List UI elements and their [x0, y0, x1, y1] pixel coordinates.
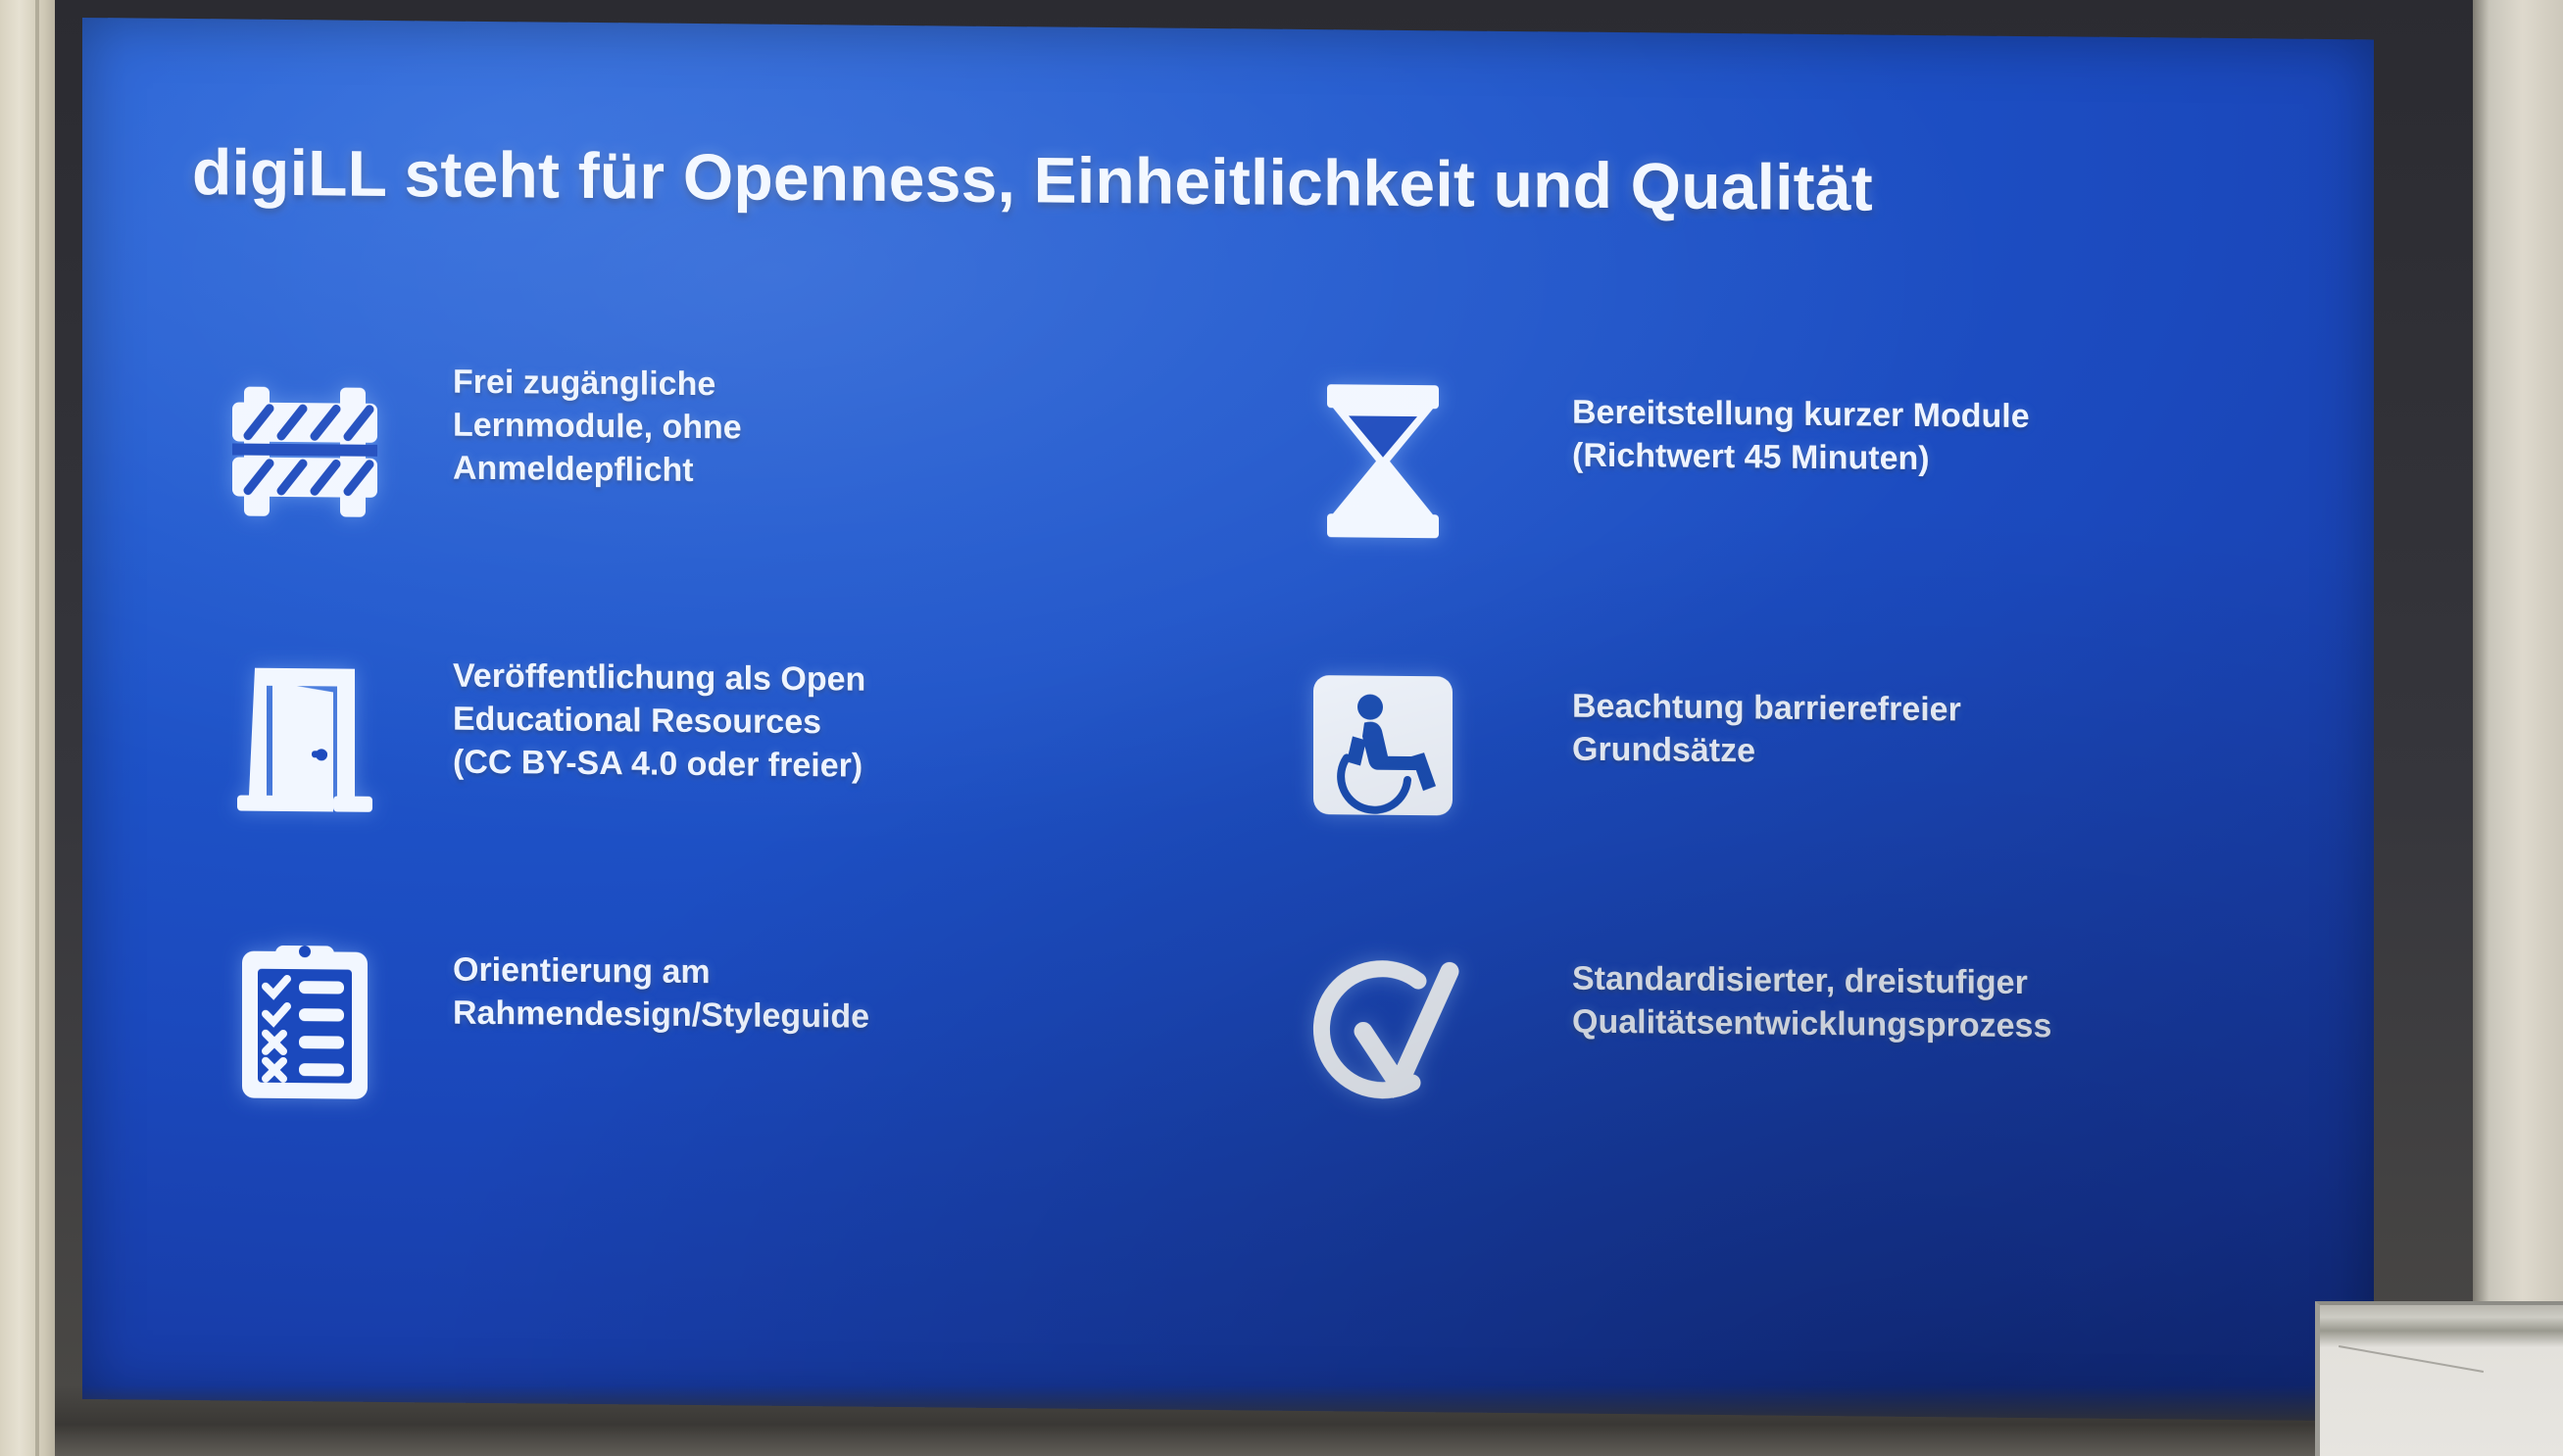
room-background: digiLL steht für Openness, Einheitlichke… — [0, 0, 2563, 1456]
cycle-check-icon — [1270, 931, 1496, 1129]
feature-line: Beachtung barrierefreier — [1572, 685, 1961, 732]
road-barrier-icon — [192, 352, 418, 550]
feature-line: Rahmendesign/Styleguide — [453, 992, 869, 1039]
feature-item-orientierung: Orientierung am Rahmendesign/Styleguide — [192, 920, 1202, 1214]
feature-line: Qualitätsentwicklungsprozess — [1572, 1000, 2051, 1048]
whiteboard-crease — [2339, 1345, 2484, 1373]
wheelchair-accessibility-icon — [1270, 647, 1496, 845]
feature-item-text: Veröffentlichung als Open Educational Re… — [453, 639, 865, 789]
feature-item-barrierefreiheit: Beachtung barrierefreier Grundsätze — [1270, 647, 2280, 941]
feature-item-bereitstellung: Bereitstellung kurzer Module (Richtwert … — [1270, 363, 2280, 656]
wall-seam — [35, 0, 39, 1456]
hourglass-icon — [1270, 363, 1496, 560]
feature-line: Orientierung am — [453, 948, 869, 995]
feature-line: Educational Resources — [453, 698, 865, 745]
whiteboard-corner — [2315, 1301, 2563, 1456]
feature-line: Lernmodule, ohne — [453, 404, 742, 450]
screen-bottom-shadow — [55, 1385, 2473, 1456]
wall-right-strip — [2473, 0, 2563, 1456]
feature-item-text: Standardisierter, dreistufiger Qualitäts… — [1531, 933, 2051, 1047]
feature-grid: Frei zugängliche Lernmodule, ohne Anmeld… — [192, 352, 2280, 1224]
feature-item-qualitaetsprozess: Standardisierter, dreistufiger Qualitäts… — [1270, 931, 2280, 1225]
feature-line: Standardisierter, dreistufiger — [1572, 957, 2051, 1005]
feature-item-veroeffentlichung: Veröffentlichung als Open Educational Re… — [192, 636, 1202, 930]
feature-line: (Richtwert 45 Minuten) — [1572, 434, 2030, 482]
feature-item-text: Bereitstellung kurzer Module (Richtwert … — [1531, 364, 2030, 481]
open-door-icon — [192, 636, 418, 834]
feature-item-text: Beachtung barrierefreier Grundsätze — [1531, 649, 1961, 775]
page-title: digiLL steht für Openness, Einheitlichke… — [192, 134, 2250, 228]
wall-left-strip — [0, 0, 55, 1456]
feature-line: Bereitstellung kurzer Module — [1572, 391, 2030, 439]
presentation-slide: digiLL steht für Openness, Einheitlichke… — [82, 18, 2374, 1421]
feature-line: Grundsätze — [1572, 728, 1961, 775]
clipboard-checklist-icon — [192, 920, 418, 1118]
slide-content: digiLL steht für Openness, Einheitlichke… — [82, 18, 2374, 1421]
feature-line: Veröffentlichung als Open — [453, 655, 865, 702]
feature-item-text: Frei zugängliche Lernmodule, ohne Anmeld… — [453, 355, 742, 493]
feature-item-frei-zugaengliche: Frei zugängliche Lernmodule, ohne Anmeld… — [192, 352, 1202, 646]
feature-line: Anmeldepflicht — [453, 447, 742, 493]
feature-item-text: Orientierung am Rahmendesign/Styleguide — [453, 923, 869, 1039]
feature-line: (CC BY-SA 4.0 oder freier) — [453, 741, 865, 788]
feature-line: Frei zugängliche — [453, 361, 742, 407]
